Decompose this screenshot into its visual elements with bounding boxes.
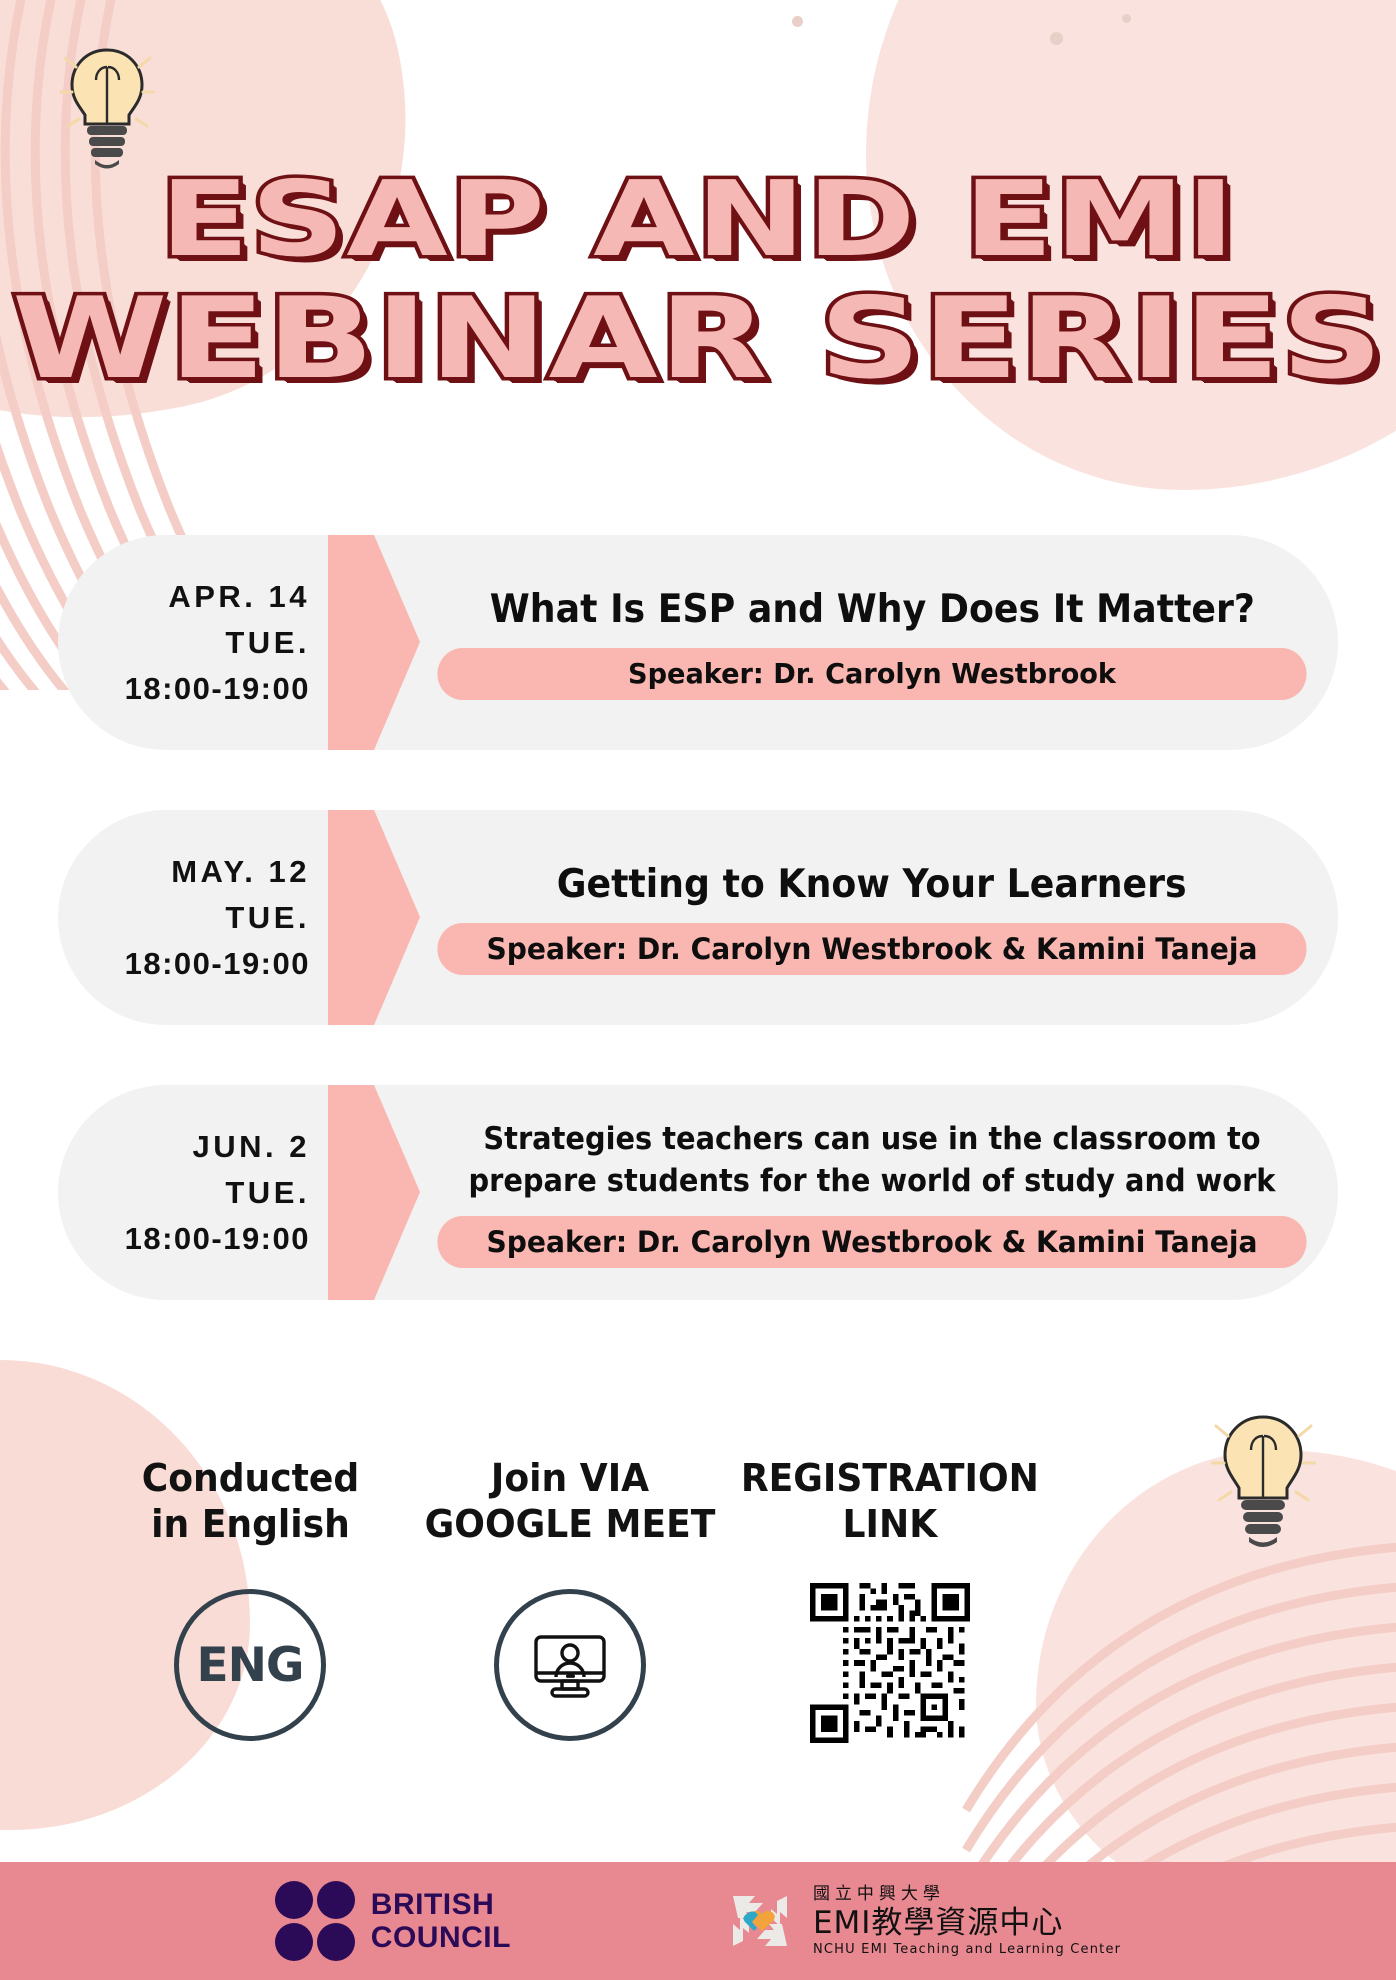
chevron-right-icon bbox=[328, 1085, 420, 1300]
eng-badge-icon: ENG bbox=[174, 1589, 326, 1741]
session-card: MAY. 12 TUE. 18:00-19:00 Getting to Know… bbox=[58, 810, 1338, 1025]
info-column-registration: REGISTRATION LINK bbox=[730, 1455, 1050, 1743]
video-monitor-icon bbox=[494, 1589, 646, 1741]
decorative-dot bbox=[1122, 14, 1131, 23]
info-label: REGISTRATION LINK bbox=[741, 1455, 1039, 1547]
chevron-right-icon bbox=[328, 810, 420, 1025]
session-body: Getting to Know Your Learners Speaker: D… bbox=[420, 810, 1338, 1025]
session-speaker-badge: Speaker: Dr. Carolyn Westbrook & Kamini … bbox=[437, 1216, 1306, 1268]
session-body: Strategies teachers can use in the class… bbox=[420, 1085, 1338, 1300]
info-column-language: Conducted in English ENG bbox=[90, 1455, 410, 1743]
title-line-1: ESAP AND EMI bbox=[0, 160, 1396, 278]
lightbulb-icon bbox=[60, 42, 155, 172]
nchu-emi-logo: 國立中興大學 EMI教學資源中心 NCHU EMI Teaching and L… bbox=[721, 1882, 1121, 1960]
nchu-emi-english-name: NCHU EMI Teaching and Learning Center bbox=[813, 1941, 1121, 1959]
session-title: What Is ESP and Why Does It Matter? bbox=[489, 586, 1254, 634]
chevron-right-icon bbox=[328, 535, 420, 750]
session-date-block: APR. 14 TUE. 18:00-19:00 bbox=[58, 535, 328, 750]
session-date-block: JUN. 2 TUE. 18:00-19:00 bbox=[58, 1085, 328, 1300]
eng-badge-label: ENG bbox=[196, 1638, 303, 1693]
session-date: MAY. 12 bbox=[171, 849, 310, 895]
session-title: Strategies teachers can use in the class… bbox=[455, 1118, 1288, 1202]
nchu-emi-university-name: 國立中興大學 bbox=[813, 1883, 1121, 1905]
poster-root: ESAP AND EMI WEBINAR SERIES APR. 14 TUE.… bbox=[0, 0, 1396, 1980]
session-date: APR. 14 bbox=[168, 574, 310, 620]
session-day: TUE. bbox=[225, 1170, 310, 1216]
session-day: TUE. bbox=[225, 895, 310, 941]
session-title: Getting to Know Your Learners bbox=[557, 861, 1187, 909]
poster-title: ESAP AND EMI WEBINAR SERIES bbox=[0, 160, 1396, 398]
session-card: APR. 14 TUE. 18:00-19:00 What Is ESP and… bbox=[58, 535, 1338, 750]
british-council-logo: BRITISH COUNCIL bbox=[275, 1881, 511, 1961]
british-council-dots-icon bbox=[275, 1881, 355, 1961]
session-day: TUE. bbox=[225, 620, 310, 666]
background-blob-bottom-right bbox=[1036, 1450, 1396, 1920]
qr-code-icon[interactable] bbox=[810, 1583, 970, 1743]
session-date-block: MAY. 12 TUE. 18:00-19:00 bbox=[58, 810, 328, 1025]
nchu-emi-emblem-icon bbox=[721, 1882, 799, 1960]
decorative-dot bbox=[1050, 32, 1063, 45]
nchu-emi-wordmark: 國立中興大學 EMI教學資源中心 NCHU EMI Teaching and L… bbox=[813, 1883, 1121, 1959]
lightbulb-icon bbox=[1211, 1408, 1316, 1550]
session-list: APR. 14 TUE. 18:00-19:00 What Is ESP and… bbox=[0, 535, 1396, 1360]
info-label: Conducted in English bbox=[141, 1455, 359, 1547]
info-column-platform: Join VIA GOOGLE MEET bbox=[410, 1455, 730, 1743]
session-time: 18:00-19:00 bbox=[125, 941, 310, 987]
british-council-wordmark: BRITISH COUNCIL bbox=[371, 1888, 511, 1954]
session-time: 18:00-19:00 bbox=[125, 666, 310, 712]
info-label: Join VIA GOOGLE MEET bbox=[425, 1455, 716, 1547]
footer-bar: BRITISH COUNCIL 國立中興大學 EMI教學資源中心 NCHU EM… bbox=[0, 1862, 1396, 1980]
session-time: 18:00-19:00 bbox=[125, 1216, 310, 1262]
session-date: JUN. 2 bbox=[193, 1124, 310, 1170]
info-row: Conducted in English ENG Join VIA GOOGLE… bbox=[90, 1455, 1050, 1743]
decorative-dot bbox=[792, 16, 803, 27]
british-council-line-1: BRITISH bbox=[371, 1888, 511, 1921]
nchu-emi-center-name: EMI教學資源中心 bbox=[813, 1905, 1121, 1941]
session-speaker-badge: Speaker: Dr. Carolyn Westbrook bbox=[437, 648, 1306, 700]
session-speaker-badge: Speaker: Dr. Carolyn Westbrook & Kamini … bbox=[437, 923, 1306, 975]
session-card: JUN. 2 TUE. 18:00-19:00 Strategies teach… bbox=[58, 1085, 1338, 1300]
session-body: What Is ESP and Why Does It Matter? Spea… bbox=[420, 535, 1338, 750]
title-line-2: WEBINAR SERIES bbox=[0, 280, 1396, 398]
british-council-line-2: COUNCIL bbox=[371, 1921, 511, 1954]
